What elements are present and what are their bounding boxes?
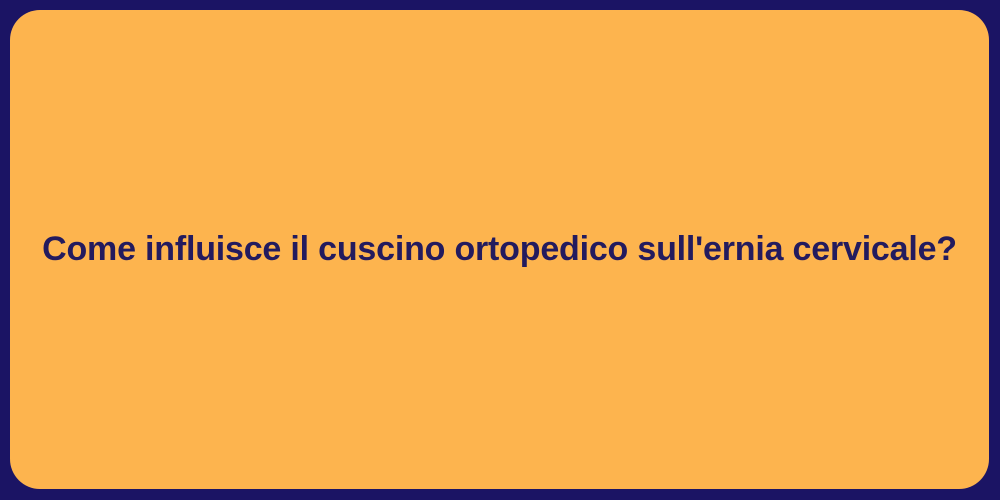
question-card-surface: Come influisce il cuscino ortopedico sul… — [10, 10, 989, 489]
question-headline: Come influisce il cuscino ortopedico sul… — [2, 228, 997, 271]
question-card-page: Come influisce il cuscino ortopedico sul… — [0, 0, 1000, 500]
